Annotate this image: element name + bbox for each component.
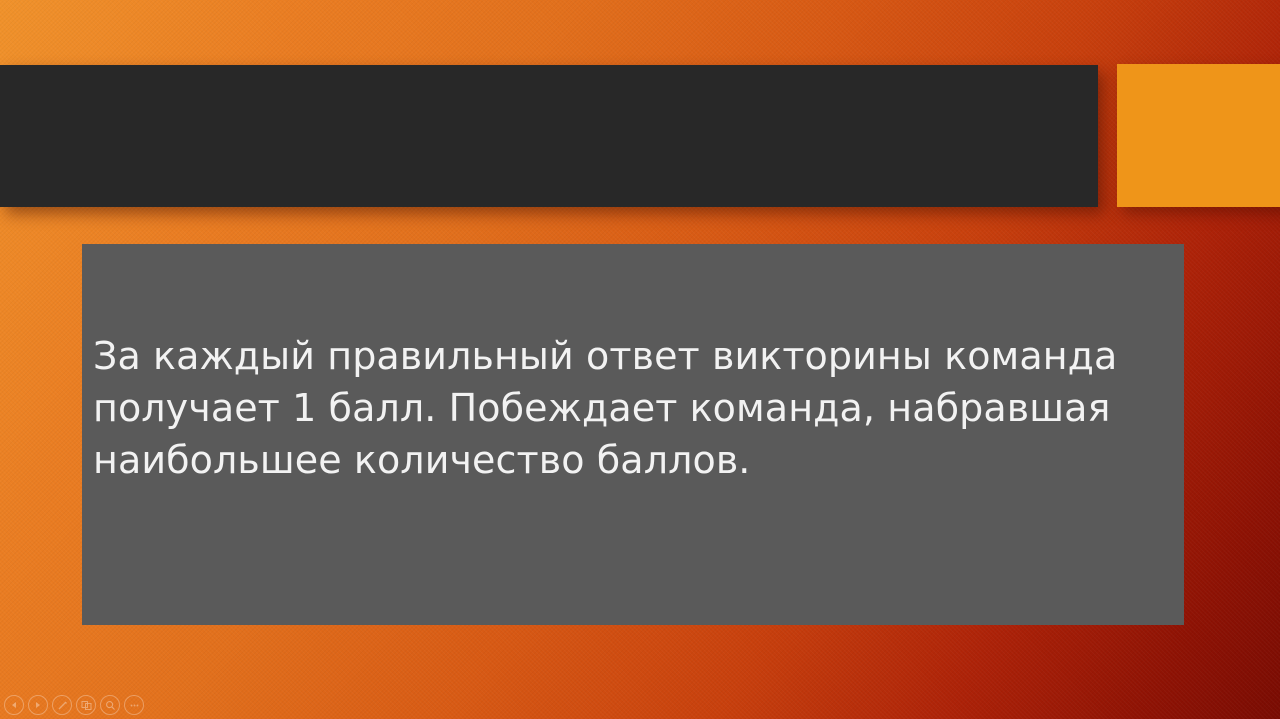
previous-slide-button[interactable] bbox=[4, 695, 24, 715]
next-slide-button[interactable] bbox=[28, 695, 48, 715]
slides-grid-icon bbox=[81, 700, 92, 711]
pen-tool-button[interactable] bbox=[52, 695, 72, 715]
pen-icon bbox=[57, 700, 68, 711]
presentation-slide: За каждый правильный ответ викторины ком… bbox=[0, 0, 1280, 719]
zoom-button[interactable] bbox=[100, 695, 120, 715]
slide-title bbox=[46, 65, 1078, 207]
slide-title-bar bbox=[0, 65, 1098, 207]
magnifier-icon bbox=[105, 700, 116, 711]
previous-icon bbox=[10, 701, 18, 709]
slide-content-panel: За каждый правильный ответ викторины ком… bbox=[82, 244, 1184, 625]
accent-block-top-right bbox=[1117, 64, 1280, 207]
more-options-button[interactable] bbox=[124, 695, 144, 715]
ellipsis-icon bbox=[129, 700, 140, 711]
next-icon bbox=[34, 701, 42, 709]
presentation-toolbar[interactable] bbox=[4, 695, 144, 715]
slide-overview-button[interactable] bbox=[76, 695, 96, 715]
slide-body-text: За каждый правильный ответ викторины ком… bbox=[93, 330, 1175, 486]
